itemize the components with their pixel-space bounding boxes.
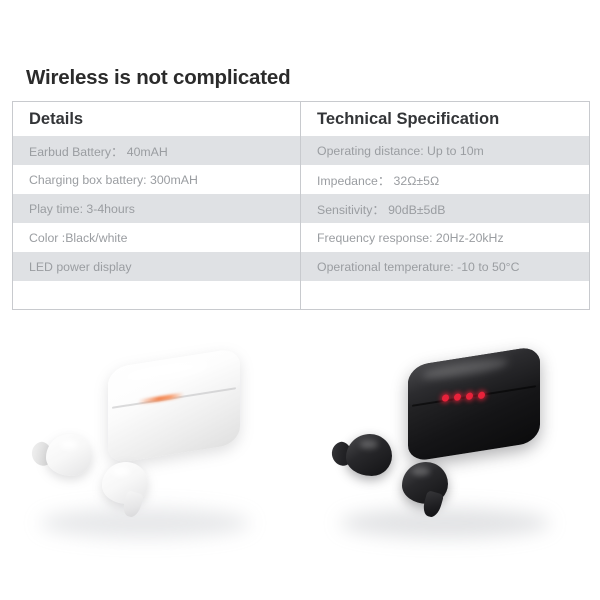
case-lid (108, 348, 240, 409)
detail-earbud-battery: Earbud Battery： 40mAH (13, 136, 301, 165)
led-dot-icon (478, 391, 485, 399)
product-photo-area (0, 330, 600, 600)
table-row: Charging box battery: 300mAH Impedance： … (13, 165, 590, 194)
earbud-body (346, 434, 392, 476)
table-header-row: Details Technical Specification (13, 102, 590, 137)
table-row-empty (13, 281, 590, 310)
spec-operational-temperature: Operational temperature: -10 to 50°C (301, 252, 590, 281)
charging-case-white (108, 348, 240, 465)
led-dot-icon (442, 394, 449, 402)
black-earbuds-product (300, 330, 600, 600)
table-row: LED power display Operational temperatur… (13, 252, 590, 281)
led-dot-icon (454, 393, 461, 401)
earbud-highlight (360, 440, 378, 449)
spec-impedance: Impedance： 32Ω±5Ω (301, 165, 590, 194)
product-shadow (40, 508, 250, 538)
detail-color: Color :Black/white (13, 223, 301, 252)
detail-play-time: Play time: 3-4hours (13, 194, 301, 223)
earbud-highlight (60, 440, 78, 449)
column-header-details: Details (13, 102, 301, 137)
specification-table: Details Technical Specification Earbud B… (12, 101, 590, 310)
lid-highlight (422, 356, 508, 383)
charging-case-black (408, 346, 540, 463)
white-earbuds-product (0, 330, 300, 600)
detail-empty (13, 281, 301, 310)
earbud-highlight (412, 467, 430, 476)
earbud-body (46, 434, 92, 476)
table-row: Color :Black/white Frequency response: 2… (13, 223, 590, 252)
product-shadow (340, 508, 550, 538)
spec-operating-distance: Operating distance: Up to 10m (301, 136, 590, 165)
spec-sensitivity: Sensitivity： 90dB±5dB (301, 194, 590, 223)
spec-empty (301, 281, 590, 310)
column-header-technical-specification: Technical Specification (301, 102, 590, 137)
earbud-highlight (112, 467, 130, 476)
table-row: Earbud Battery： 40mAH Operating distance… (13, 136, 590, 165)
product-spec-page: Wireless is not complicated Details Tech… (0, 0, 600, 600)
led-dot-icon (466, 392, 473, 400)
detail-led-power-display: LED power display (13, 252, 301, 281)
spec-frequency-response: Frequency response: 20Hz-20kHz (301, 223, 590, 252)
detail-charging-box-battery: Charging box battery: 300mAH (13, 165, 301, 194)
page-title: Wireless is not complicated (26, 66, 290, 90)
lid-highlight (122, 358, 208, 385)
table-row: Play time: 3-4hours Sensitivity： 90dB±5d… (13, 194, 590, 223)
